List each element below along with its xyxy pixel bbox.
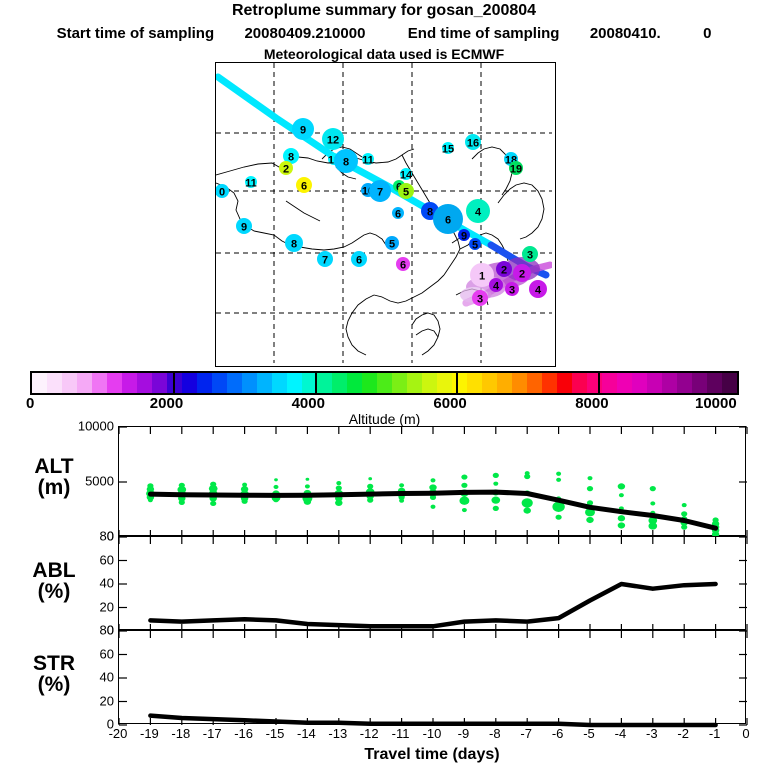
colorbar-swatch	[287, 373, 302, 393]
marker-day-label: 9	[241, 222, 247, 234]
marker-day-label: 11	[362, 155, 374, 167]
scatter-point	[367, 498, 373, 503]
colorbar-swatch	[467, 373, 482, 393]
scatter-point	[522, 498, 533, 507]
marker-day-label: 9	[461, 231, 467, 243]
marker-day-label: 5	[403, 187, 409, 199]
x-axis-tick-label: -6	[552, 726, 564, 741]
start-time-value: 20080409.210000	[244, 25, 365, 42]
scatter-point	[618, 483, 625, 489]
colorbar-swatch	[317, 373, 332, 393]
x-axis-tick-label: -8	[489, 726, 501, 741]
map-day-marker: 6	[392, 207, 404, 221]
map-day-marker: 4	[529, 280, 547, 298]
x-axis-tick-label: -2	[677, 726, 689, 741]
map-day-marker: 2	[279, 161, 293, 176]
x-axis-tick-label: -5	[583, 726, 595, 741]
map-day-marker: 11	[362, 153, 374, 167]
map-day-marker: 3	[522, 246, 538, 262]
marker-day-label: 6	[356, 255, 362, 267]
scatter-point	[586, 517, 593, 523]
colorbar-tick-label: 10000	[695, 395, 737, 412]
colorbar-swatch	[212, 373, 227, 393]
scatter-point	[682, 503, 687, 507]
map-day-marker: 0	[216, 184, 229, 199]
y-axis-tick-label: 40	[100, 576, 114, 591]
colorbar-swatch	[152, 373, 167, 393]
colorbar-swatch	[197, 373, 212, 393]
scatter-point	[306, 478, 310, 481]
map-day-marker: 3	[472, 290, 488, 306]
colorbar-swatch	[722, 373, 737, 393]
x-axis-tick-label: -17	[203, 726, 222, 741]
meteorological-data-note: Meteorological data used is ECMWF	[0, 46, 768, 62]
scatter-point	[523, 507, 530, 513]
x-axis-tick-labels: -20-19-18-17-16-15-14-13-12-11-10-9-8-7-…	[0, 726, 768, 746]
abl-chart-panel	[118, 536, 746, 630]
scatter-point	[556, 478, 561, 482]
colorbar-swatch	[362, 373, 377, 393]
marker-day-label: 19	[510, 164, 522, 176]
marker-day-label: 5	[472, 240, 478, 252]
x-axis-tick-label: -9	[458, 726, 470, 741]
y-axis-tick-label: 5000	[85, 474, 114, 489]
marker-day-label: 14	[400, 170, 413, 182]
plume-trajectory-upper	[218, 77, 546, 275]
x-axis-tick-label: -14	[297, 726, 316, 741]
scatter-point	[491, 497, 500, 504]
scatter-point	[461, 483, 467, 488]
marker-day-label: 2	[501, 265, 507, 277]
scatter-point	[681, 525, 687, 530]
alt-chart-panel	[118, 426, 746, 536]
marker-day-label: 4	[493, 281, 500, 293]
colorbar-tick-label: 4000	[292, 395, 325, 412]
y-axis-tick-label: 40	[100, 670, 114, 685]
marker-day-label: 6	[395, 209, 401, 221]
colorbar-swatch	[392, 373, 407, 393]
sampling-times: Start time of sampling 20080409.210000 E…	[0, 25, 768, 42]
colorbar-swatch	[107, 373, 122, 393]
scatter-point	[493, 506, 499, 511]
colorbar-swatch	[662, 373, 677, 393]
map-day-marker: 6	[296, 177, 312, 193]
scatter-point	[681, 511, 687, 516]
scatter-point	[618, 522, 625, 528]
colorbar-swatch	[182, 373, 197, 393]
x-axis-tick-label: -19	[140, 726, 159, 741]
map-day-marker: 6	[351, 251, 367, 267]
colorbar-swatch	[92, 373, 107, 393]
colorbar-swatch	[77, 373, 92, 393]
colorbar-tick-label: 0	[26, 395, 34, 412]
alt-chart-graphics	[119, 427, 747, 537]
scatter-point	[493, 482, 498, 486]
scatter-point	[274, 485, 279, 489]
marker-day-label: 8	[343, 157, 349, 169]
scatter-point	[336, 485, 342, 490]
map-day-marker: 8	[285, 234, 303, 252]
scatter-point	[242, 499, 248, 504]
map-day-marker: 4	[466, 199, 490, 223]
marker-day-label: 8	[427, 207, 433, 219]
colorbar-divider	[598, 373, 600, 393]
x-axis-tick-label: -3	[646, 726, 658, 741]
marker-day-label: 2	[519, 269, 525, 281]
x-axis-tick-label: -12	[360, 726, 379, 741]
scatter-point	[493, 473, 499, 478]
scatter-point	[304, 499, 311, 505]
map-day-marker: 9	[236, 218, 252, 234]
mean-line	[150, 584, 715, 626]
scatter-point	[650, 501, 655, 505]
map-day-marker: 2	[496, 261, 512, 277]
scatter-point	[619, 493, 624, 497]
x-axis-title: Travel time (days)	[118, 746, 746, 764]
colorbar-swatch	[437, 373, 452, 393]
map-day-marker: 3	[505, 282, 519, 297]
scatter-point	[367, 484, 373, 489]
colorbar-divider	[173, 373, 175, 393]
scatter-point	[336, 481, 341, 485]
x-axis-tick-label: -16	[234, 726, 253, 741]
y-axis-tick-label: 80	[100, 529, 114, 544]
colorbar-swatch	[707, 373, 722, 393]
map-day-marker: 7	[369, 180, 391, 202]
colorbar-swatch	[47, 373, 62, 393]
marker-day-label: 7	[322, 255, 328, 267]
y-axis-tick-label: 20	[100, 599, 114, 614]
scatter-point	[148, 498, 153, 502]
colorbar-swatch	[617, 373, 632, 393]
colorbar-swatch	[512, 373, 527, 393]
colorbar-swatch	[347, 373, 362, 393]
marker-day-label: 0	[219, 187, 225, 199]
y-axis-tick-label: 10000	[78, 419, 114, 434]
colorbar-swatch	[572, 373, 587, 393]
end-time-label: End time of sampling	[408, 25, 560, 42]
marker-day-label: 6	[445, 215, 451, 227]
map-day-marker: 2	[513, 264, 531, 282]
y-axis-tick-label: 60	[100, 646, 114, 661]
scatter-point	[556, 515, 562, 520]
y-axis-tick-label: 20	[100, 693, 114, 708]
colorbar-tick-label: 6000	[433, 395, 466, 412]
scatter-point	[305, 484, 310, 488]
marker-day-label: 5	[389, 239, 395, 251]
abl-chart-graphics	[119, 537, 747, 631]
colorbar-divider	[315, 373, 317, 393]
marker-day-label: 9	[300, 125, 306, 137]
map-day-marker: 5	[385, 236, 399, 251]
map-day-marker: 16	[465, 134, 481, 150]
scatter-point	[618, 515, 625, 521]
colorbar-swatch	[62, 373, 77, 393]
x-axis-tick-label: -13	[328, 726, 347, 741]
colorbar-swatch	[632, 373, 647, 393]
marker-day-label: 1	[479, 271, 485, 283]
marker-day-label: 16	[467, 138, 479, 150]
map-graphics: 0119876891212811261076514151618196864569…	[216, 63, 552, 363]
colorbar-swatch	[407, 373, 422, 393]
map-day-marker: 6	[396, 257, 410, 272]
x-axis-tick-label: -15	[266, 726, 285, 741]
map-day-marker: 5	[398, 183, 414, 199]
colorbar-swatch	[602, 373, 617, 393]
scatter-point	[368, 477, 372, 480]
scatter-point	[431, 505, 436, 509]
x-axis-tick-label: -1	[709, 726, 721, 741]
marker-day-label: 11	[245, 178, 257, 190]
scatter-point	[556, 472, 561, 476]
scatter-point	[399, 499, 404, 503]
scatter-point	[461, 474, 467, 479]
end-time-value: 20080410.	[590, 25, 661, 42]
marker-day-label: 7	[377, 187, 383, 199]
marker-day-label: 8	[291, 239, 297, 251]
page-title: Retroplume summary for gosan_200804	[0, 2, 768, 20]
scatter-point	[648, 522, 657, 529]
marker-day-label: 12	[327, 135, 339, 147]
scatter-point	[459, 497, 469, 505]
str-panel-label: STR (%)	[8, 653, 100, 695]
colorbar-swatch	[422, 373, 437, 393]
colorbar-tick-label: 2000	[150, 395, 183, 412]
colorbar-divider	[456, 373, 458, 393]
scatter-point	[650, 486, 656, 491]
marker-day-label: 6	[301, 181, 307, 193]
scatter-point	[587, 486, 593, 491]
x-axis-tick-label: -11	[392, 726, 410, 741]
marker-day-label: 2	[283, 164, 289, 176]
scatter-point	[335, 500, 342, 506]
str-chart-graphics	[119, 631, 747, 725]
colorbar-swatch	[692, 373, 707, 393]
map-day-marker: 12	[322, 128, 344, 150]
map-day-marker: 7	[317, 251, 333, 267]
colorbar-swatch	[332, 373, 347, 393]
colorbar-gradient	[30, 371, 739, 395]
marker-day-label: 4	[535, 285, 542, 297]
colorbar-swatch	[542, 373, 557, 393]
colorbar-swatch	[452, 373, 467, 393]
colorbar-swatch	[497, 373, 512, 393]
colorbar-swatch	[557, 373, 572, 393]
scatter-point	[179, 500, 185, 505]
colorbar-swatch	[272, 373, 287, 393]
x-axis-tick-label: -18	[171, 726, 190, 741]
marker-day-label: 6	[400, 260, 406, 272]
scatter-point	[431, 478, 436, 482]
colorbar-swatch	[647, 373, 662, 393]
colorbar-swatch	[482, 373, 497, 393]
colorbar-swatch	[137, 373, 152, 393]
scatter-point	[524, 474, 530, 479]
timeseries-section: ALT (m) ABL (%) STR (%) -20-19-18-17-16-…	[0, 420, 768, 768]
marker-day-label: 3	[527, 250, 533, 262]
colorbar-swatch	[257, 373, 272, 393]
marker-day-label: 4	[475, 207, 482, 219]
map-day-marker: 15	[442, 142, 454, 156]
colorbar-tick-label: 8000	[575, 395, 608, 412]
x-axis-tick-label: 0	[742, 726, 749, 741]
colorbar-swatch	[677, 373, 692, 393]
colorbar-swatch	[377, 373, 392, 393]
y-axis-tick-label: 0	[107, 717, 114, 732]
scatter-point	[399, 483, 404, 487]
colorbar-swatch	[242, 373, 257, 393]
x-axis-tick-label: -4	[615, 726, 627, 741]
map-day-marker: 9	[458, 229, 470, 243]
y-axis-tick-label: 80	[100, 623, 114, 638]
scatter-point	[274, 478, 278, 481]
colorbar-swatch	[122, 373, 137, 393]
colorbar-swatch	[32, 373, 47, 393]
marker-day-label: 3	[477, 294, 483, 306]
map-day-marker: 14	[400, 168, 413, 182]
colorbar-swatch	[527, 373, 542, 393]
start-time-label: Start time of sampling	[57, 25, 215, 42]
scatter-point	[462, 508, 467, 512]
retroplume-map: 0119876891212811261076514151618196864569…	[215, 62, 556, 367]
map-day-marker: 19	[509, 161, 523, 176]
map-day-marker: 5	[469, 238, 481, 252]
colorbar-swatch	[227, 373, 242, 393]
scatter-point	[210, 501, 216, 506]
x-axis-tick-label: -10	[423, 726, 442, 741]
abl-panel-label: ABL (%)	[8, 560, 100, 602]
y-axis-tick-label: 60	[100, 552, 114, 567]
map-day-marker: 6	[433, 204, 463, 234]
marker-day-label: 15	[442, 144, 454, 156]
altitude-colorbar: 0200040006000800010000 Altitude (m)	[30, 371, 739, 395]
scatter-point	[588, 476, 593, 480]
end-time-value-2: 0	[703, 25, 711, 42]
map-day-marker: 11	[245, 176, 257, 190]
x-axis-tick-label: -7	[520, 726, 532, 741]
map-day-marker: 9	[292, 118, 314, 140]
str-chart-panel	[118, 630, 746, 724]
marker-day-label: 3	[509, 285, 515, 297]
map-day-marker: 8	[334, 149, 358, 173]
